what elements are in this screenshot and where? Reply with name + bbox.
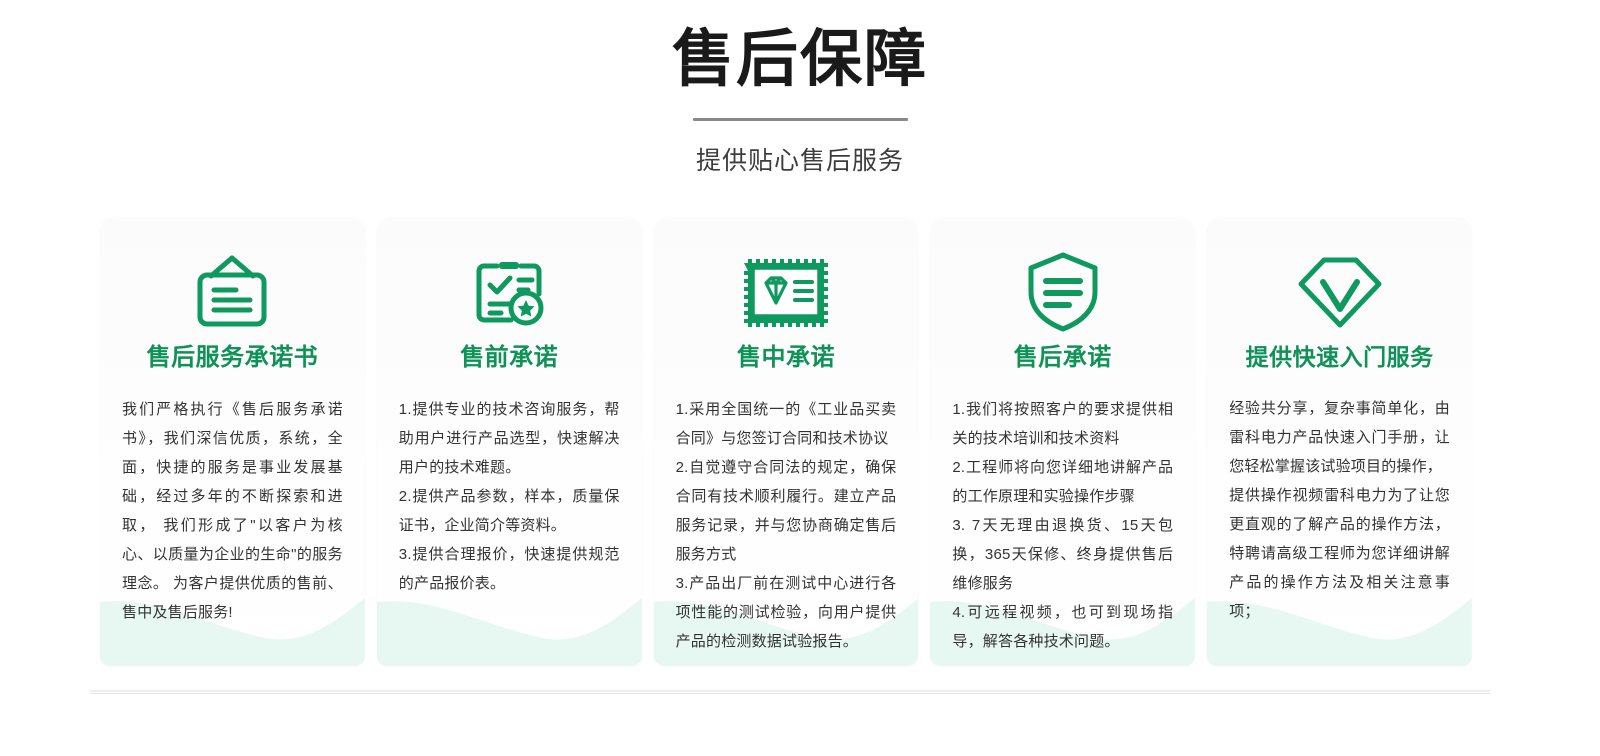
service-card-pre-sales-commitment[interactable]: 售前承诺 1.提供专业的技术咨询服务，帮助用户进行产品选型，快速解决用户的技术难… [377, 218, 642, 666]
after-sales-guarantee-page: 售后保障 提供贴心售后服务 [0, 0, 1600, 756]
stamp-diamond-icon [676, 246, 897, 338]
hanging-sign-icon [122, 246, 343, 338]
service-card-in-sales-commitment[interactable]: 售中承诺 1.采用全国统一的《工业品买卖合同》与您签订合同和技术协议2.自觉遵守… [654, 218, 919, 666]
card-body-text: 1.采用全国统一的《工业品买卖合同》与您签订合同和技术协议2.自觉遵守合同法的规… [676, 395, 897, 656]
shield-lines-icon [952, 246, 1173, 338]
card-body-text: 1.提供专业的技术咨询服务，帮助用户进行产品选型，快速解决用户的技术难题。2.提… [399, 395, 620, 598]
card-title: 售前承诺 [399, 344, 620, 373]
card-body-text: 我们严格执行《售后服务承诺书》，我们深信优质，系统，全面，快捷的服务是事业发展基… [122, 395, 343, 627]
bottom-divider-accent [90, 693, 1490, 694]
page-subtitle: 提供贴心售后服务 [0, 141, 1600, 177]
page-title: 售后保障 [0, 24, 1600, 96]
service-card-list: 售后服务承诺书 我们严格执行《售后服务承诺书》，我们深信优质，系统，全面，快捷的… [100, 218, 1472, 666]
page-header: 售后保障 提供贴心售后服务 [0, 0, 1600, 177]
card-title: 售中承诺 [676, 344, 897, 373]
card-body-text: 1.我们将按照客户的要求提供相关的技术培训和技术资料2.工程师将向您详细地讲解产… [952, 395, 1173, 656]
service-card-after-sales-commitment[interactable]: 售后承诺 1.我们将按照客户的要求提供相关的技术培训和技术资料2.工程师将向您详… [930, 218, 1195, 666]
title-divider [693, 118, 908, 121]
card-title: 提供快速入门服务 [1229, 344, 1450, 372]
clipboard-star-icon [399, 246, 620, 338]
card-title: 售后服务承诺书 [122, 344, 343, 373]
card-body-text: 经验共分享，复杂事简单化，由雷科电力产品快速入门手册，让您轻松掌握该试验项目的操… [1229, 394, 1450, 626]
diamond-check-icon [1229, 246, 1450, 338]
service-card-quick-start-service[interactable]: 提供快速入门服务 经验共分享，复杂事简单化，由雷科电力产品快速入门手册，让您轻松… [1207, 218, 1472, 666]
card-title: 售后承诺 [952, 344, 1173, 373]
bottom-divider [90, 690, 1490, 692]
service-card-after-sales-commitment-letter[interactable]: 售后服务承诺书 我们严格执行《售后服务承诺书》，我们深信优质，系统，全面，快捷的… [100, 218, 365, 666]
